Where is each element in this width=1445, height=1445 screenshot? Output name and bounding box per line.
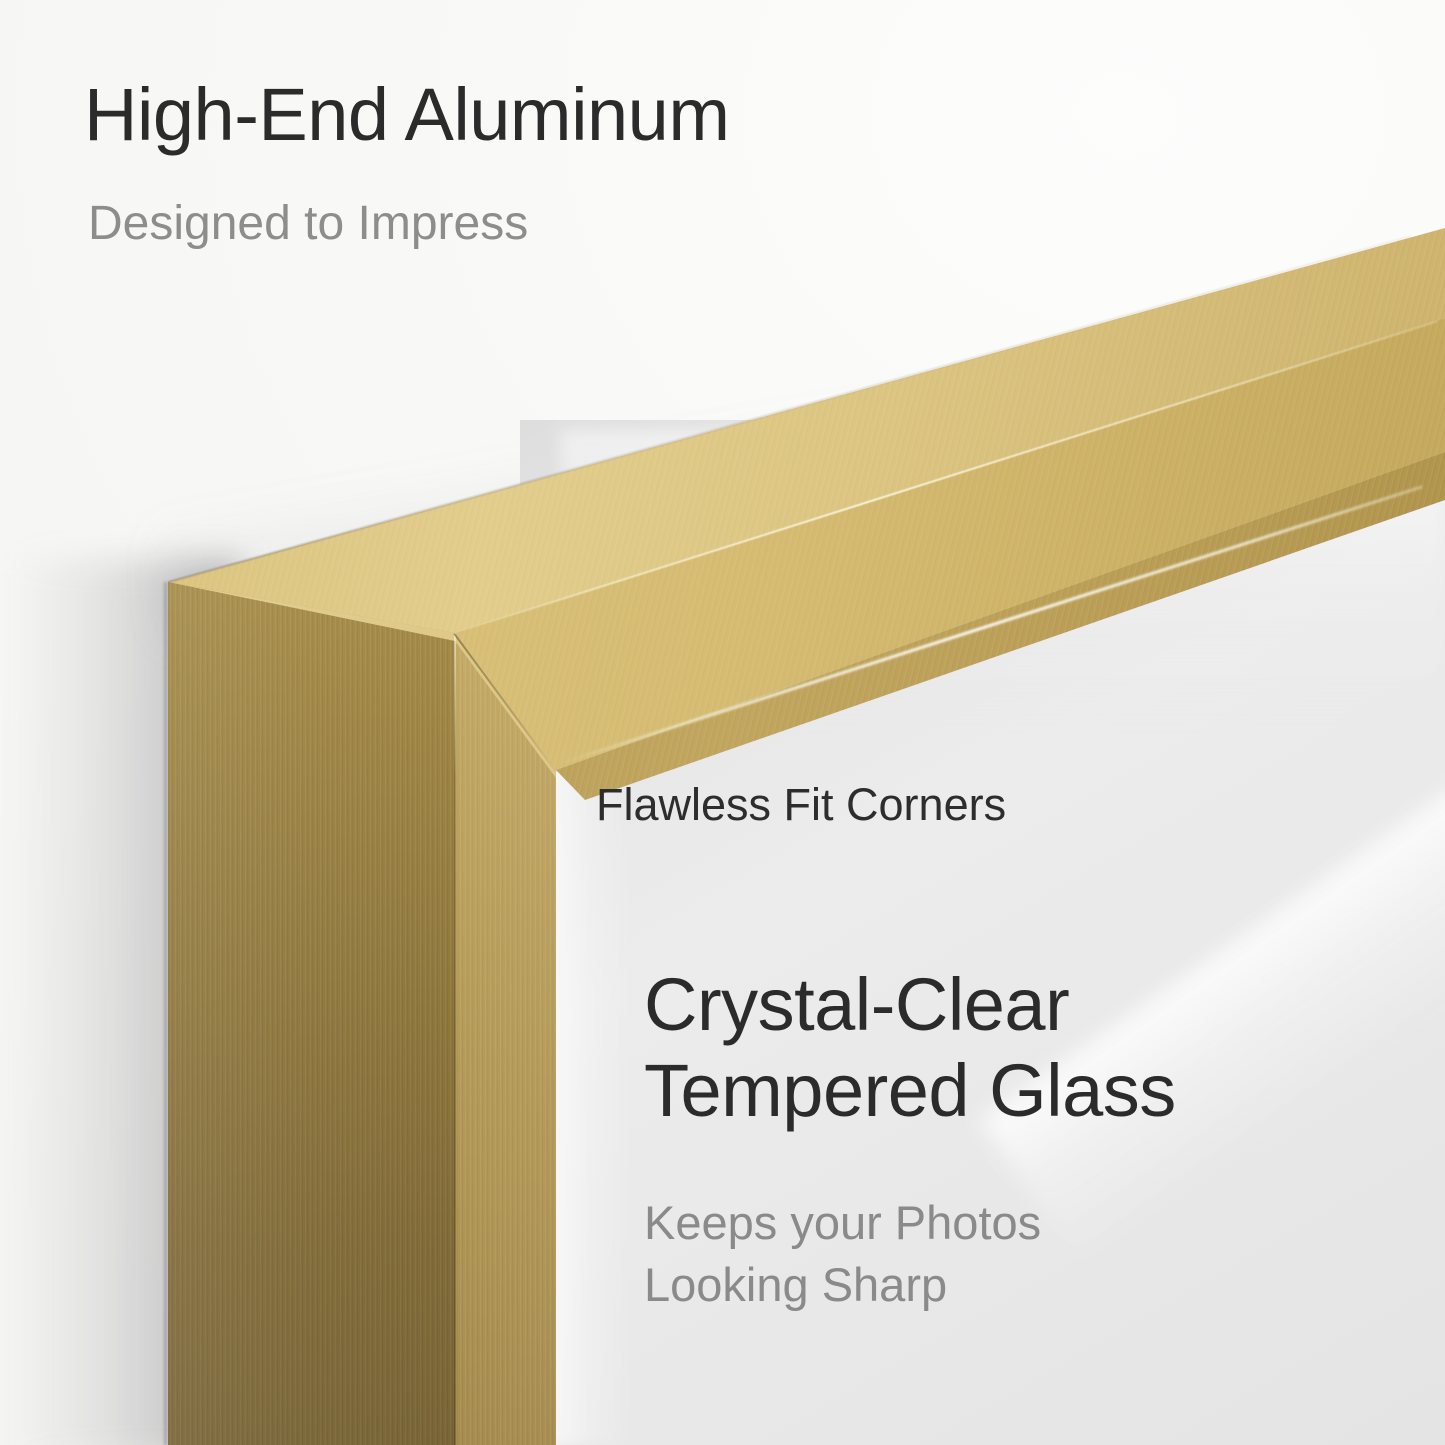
callout-glass-subtitle-line2: Looking Sharp [644, 1258, 947, 1311]
frame-left-fold-seam [454, 633, 456, 1445]
product-feature-image: High-End Aluminum Designed to Impress Fl… [0, 0, 1445, 1445]
callout-glass-title: Crystal-ClearTempered Glass [644, 962, 1176, 1134]
frame-left-outer-edge [164, 582, 169, 1445]
page-subtitle: Designed to Impress [88, 196, 528, 251]
callout-glass-subtitle-line1: Keeps your Photos [644, 1196, 1041, 1249]
callout-glass-title-line2: Tempered Glass [644, 1049, 1176, 1132]
callout-glass-title-line1: Crystal-Clear [644, 963, 1069, 1046]
glass-inner-edge-glow [545, 760, 635, 1445]
page-title: High-End Aluminum [84, 72, 729, 157]
callout-flawless-fit-corners: Flawless Fit Corners [596, 779, 1006, 831]
callout-glass-subtitle: Keeps your PhotosLooking Sharp [644, 1192, 1041, 1316]
